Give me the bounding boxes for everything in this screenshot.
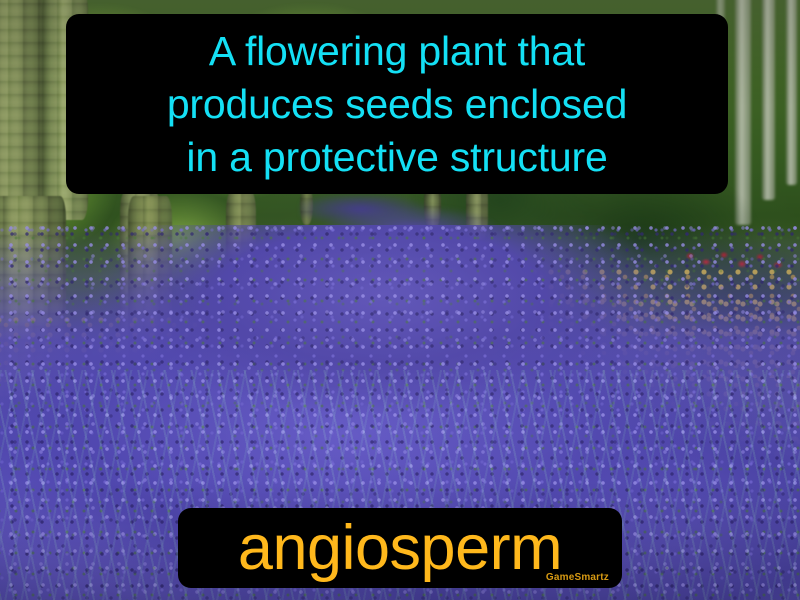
term-text: angiosperm xyxy=(238,515,562,581)
term-panel: angiosperm GameSmartz xyxy=(178,508,622,588)
definition-text: A flowering plant that produces seeds en… xyxy=(167,25,627,184)
watermark: GameSmartz xyxy=(546,572,609,583)
definition-panel: A flowering plant that produces seeds en… xyxy=(66,14,728,194)
flashcard: A flowering plant that produces seeds en… xyxy=(0,0,800,600)
